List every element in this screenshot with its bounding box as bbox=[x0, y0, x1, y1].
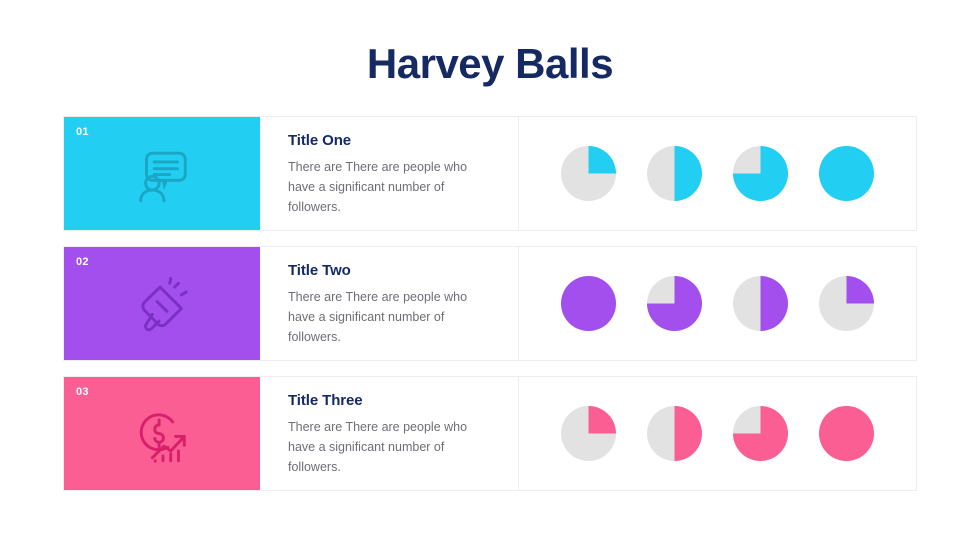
harvey-ball bbox=[733, 146, 788, 201]
harvey-ball bbox=[561, 276, 616, 331]
harvey-ball bbox=[733, 276, 788, 331]
row-title: Title One bbox=[288, 132, 496, 149]
row-balls bbox=[519, 377, 916, 490]
row-balls bbox=[519, 247, 916, 360]
harvey-ball bbox=[561, 406, 616, 461]
row-text-column: Title One There are There are people who… bbox=[260, 117, 519, 230]
row-description: There are There are people who have a si… bbox=[288, 287, 496, 347]
harvey-ball bbox=[647, 276, 702, 331]
harvey-ball bbox=[819, 406, 874, 461]
row-title: Title Three bbox=[288, 392, 496, 409]
slide-root: Harvey Balls 01 Title One There are Ther… bbox=[0, 0, 980, 551]
megaphone-icon bbox=[131, 275, 193, 337]
page-title: Harvey Balls bbox=[0, 40, 980, 88]
harvey-ball bbox=[819, 276, 874, 331]
harvey-ball bbox=[819, 146, 874, 201]
harvey-ball bbox=[647, 146, 702, 201]
row-color-panel: 01 bbox=[64, 117, 260, 230]
row-item[interactable]: 02 Title Two There are There are people … bbox=[63, 246, 917, 361]
speech-bubble-person-icon bbox=[131, 145, 193, 207]
row-text-column: Title Two There are There are people who… bbox=[260, 247, 519, 360]
row-description: There are There are people who have a si… bbox=[288, 417, 496, 477]
row-balls bbox=[519, 117, 916, 230]
row-number: 03 bbox=[76, 386, 89, 398]
row-color-panel: 03 bbox=[64, 377, 260, 490]
row-description: There are There are people who have a si… bbox=[288, 157, 496, 217]
harvey-balls-rows: 01 Title One There are There are people … bbox=[63, 116, 917, 506]
harvey-ball bbox=[561, 146, 616, 201]
row-number: 02 bbox=[76, 256, 89, 268]
dollar-growth-chart-icon bbox=[131, 405, 193, 467]
row-item[interactable]: 03 Title bbox=[63, 376, 917, 491]
harvey-ball bbox=[647, 406, 702, 461]
row-title: Title Two bbox=[288, 262, 496, 279]
row-item[interactable]: 01 Title One There are There are people … bbox=[63, 116, 917, 231]
row-text-column: Title Three There are There are people w… bbox=[260, 377, 519, 490]
row-color-panel: 02 bbox=[64, 247, 260, 360]
row-number: 01 bbox=[76, 126, 89, 138]
harvey-ball bbox=[733, 406, 788, 461]
